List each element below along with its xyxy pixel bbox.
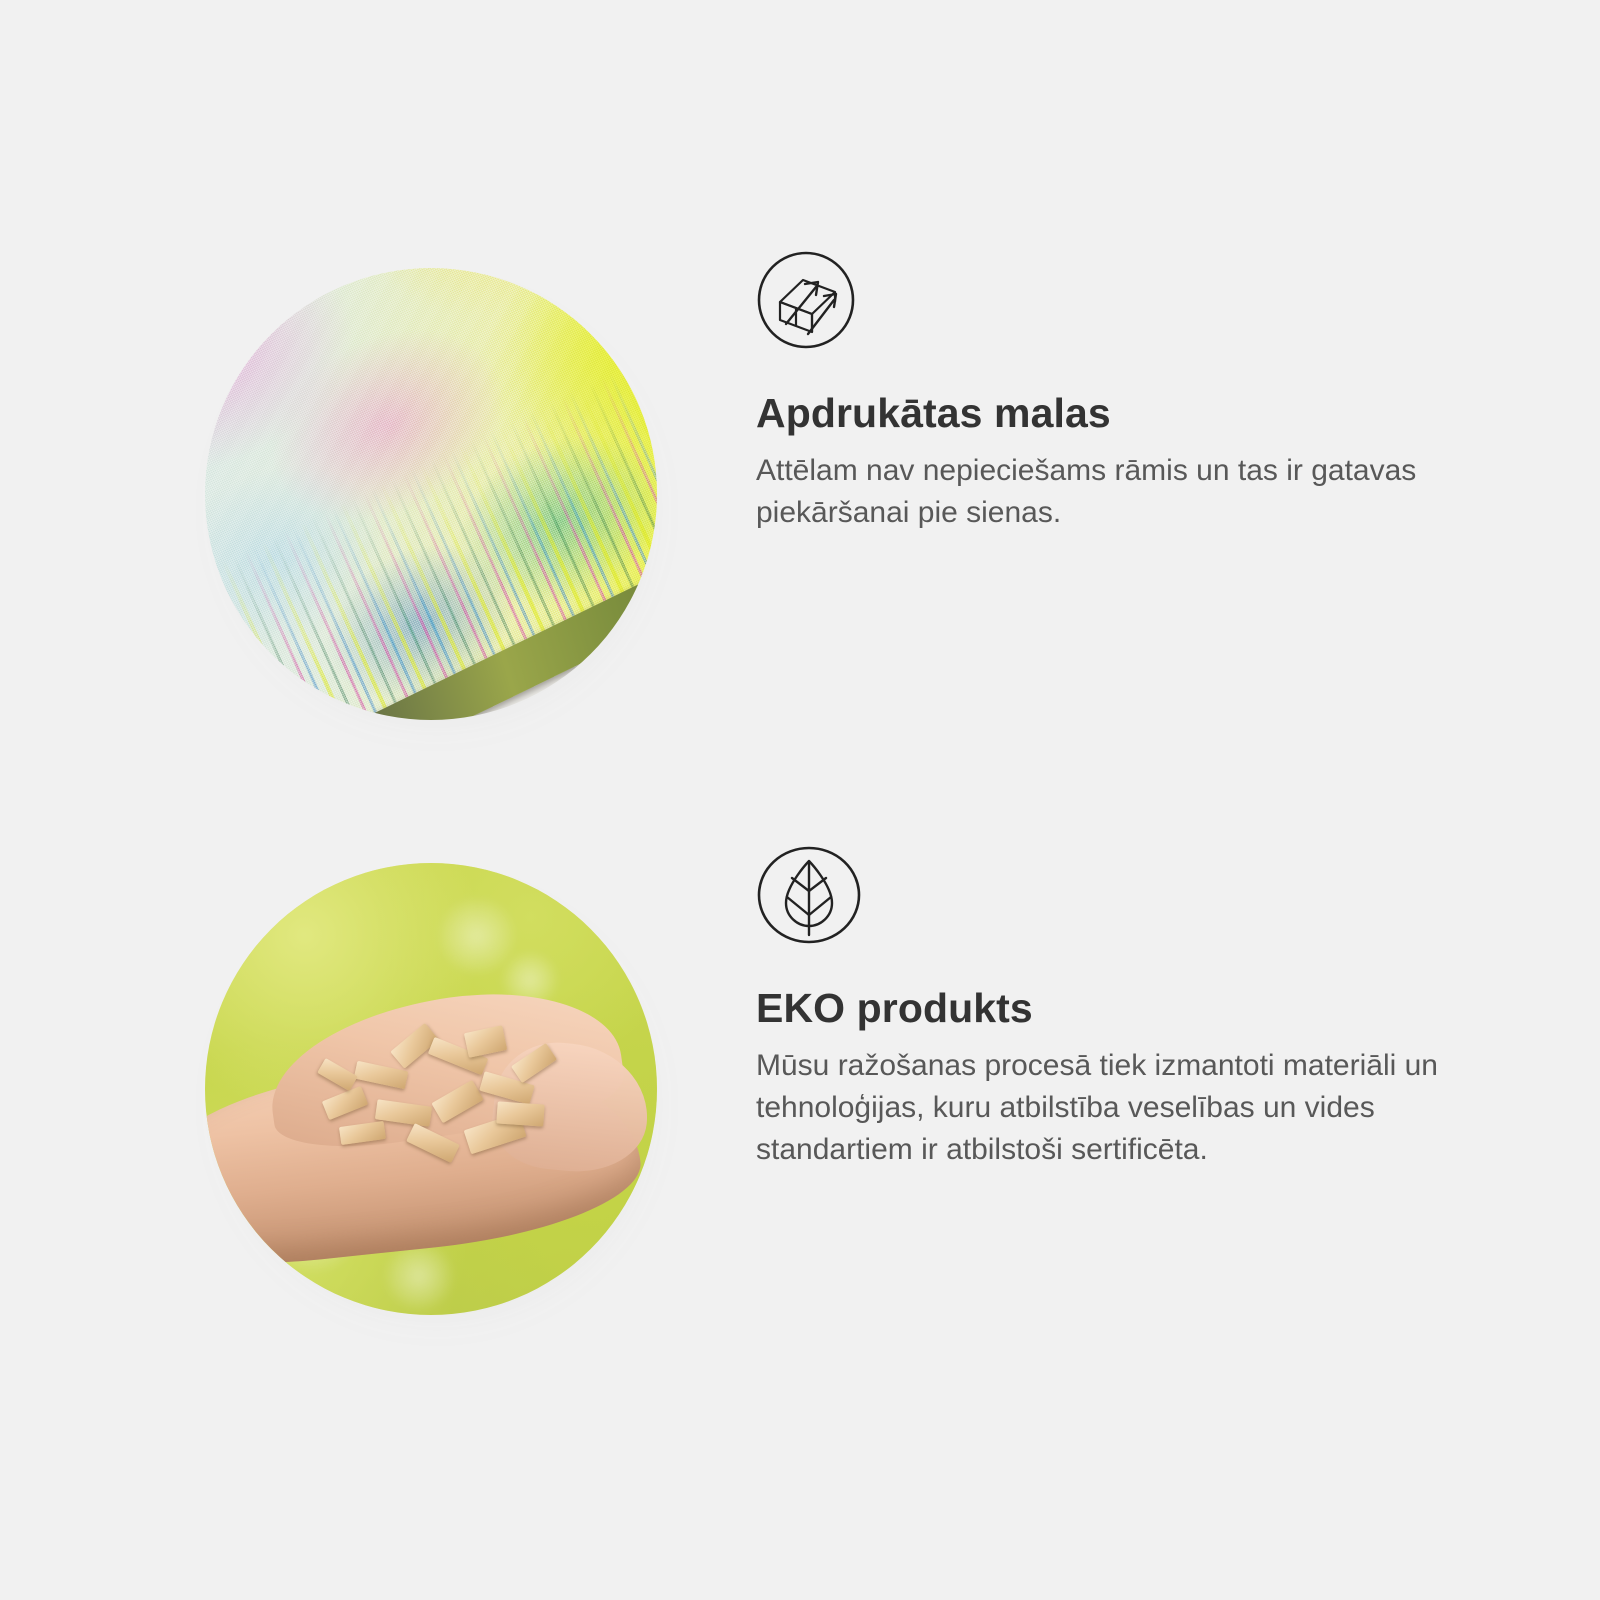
bokeh-highlight	[386, 1243, 452, 1309]
media-circle-mask	[205, 268, 657, 720]
printed-edges-text-column: Apdrukātas malas Attēlam nav nepieciešam…	[756, 250, 1476, 534]
feature-eco-product: EKO produkts Mūsu ražošanas procesā tiek…	[0, 845, 1600, 1365]
canvas-corner-photo	[205, 268, 657, 720]
hands-holding-woodchips-photo	[205, 863, 657, 1315]
leaf-icon	[756, 845, 856, 945]
feature-description: Mūsu ražošanas procesā tiek izmantoti ma…	[756, 1031, 1472, 1171]
canvas-block	[205, 268, 657, 720]
bokeh-highlight	[440, 899, 514, 973]
canvas-photo-scene	[205, 268, 657, 720]
media-circle-mask	[205, 863, 657, 1315]
feature-printed-edges: Apdrukātas malas Attēlam nav nepieciešam…	[0, 250, 1600, 770]
eco-product-text-column: EKO produkts Mūsu ražošanas procesā tiek…	[756, 845, 1476, 1171]
eco-photo-scene	[205, 863, 657, 1315]
woodchip-pile	[313, 1026, 575, 1180]
printed-edge-arrows-icon	[756, 250, 856, 350]
feature-title: Apdrukātas malas	[756, 350, 1476, 436]
feature-panel: Apdrukātas malas Attēlam nav nepieciešam…	[0, 0, 1600, 1600]
feature-description: Attēlam nav nepieciešams rāmis un tas ir…	[756, 436, 1456, 534]
feature-title: EKO produkts	[756, 945, 1476, 1031]
